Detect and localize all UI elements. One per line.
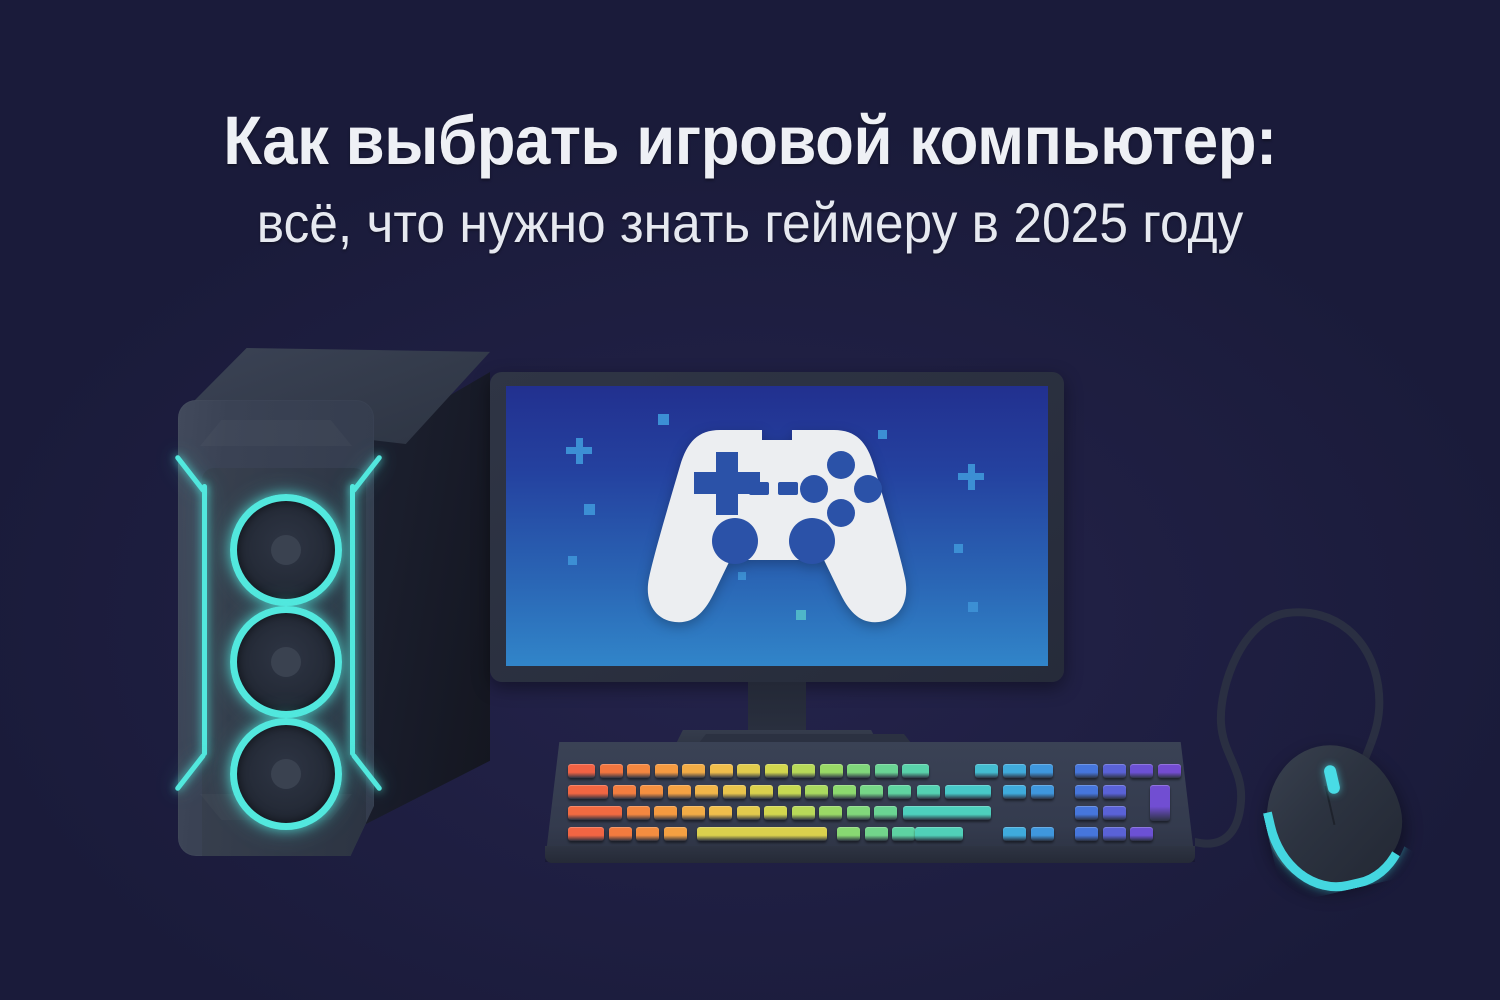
key-nav[interactable] — [1003, 764, 1026, 778]
key-row2[interactable] — [778, 785, 801, 799]
screen-square-decoration — [968, 602, 978, 612]
key-tab[interactable] — [568, 785, 608, 799]
key-mod-right[interactable] — [837, 827, 860, 841]
key-row3[interactable] — [792, 806, 815, 820]
fan-hub — [271, 759, 301, 789]
key-spacebar[interactable] — [697, 827, 827, 841]
key-numpad[interactable] — [1075, 764, 1098, 778]
keyboard-front-lip — [545, 846, 1195, 863]
key-row3[interactable] — [874, 806, 897, 820]
pc-tower — [170, 348, 490, 878]
rgb-strip-left — [202, 484, 207, 756]
key-numpad[interactable] — [1130, 764, 1153, 778]
monitor-bezel — [490, 372, 1064, 682]
screen-square-decoration — [954, 544, 963, 553]
key-numpad[interactable] — [1103, 785, 1126, 799]
poster-canvas: Как выбрать игровой компьютер: всё, что … — [0, 0, 1500, 1000]
key-row1[interactable] — [902, 764, 929, 778]
key-row2[interactable] — [613, 785, 636, 799]
key-row3[interactable] — [737, 806, 760, 820]
key-nav[interactable] — [1030, 764, 1053, 778]
key-row3[interactable] — [654, 806, 677, 820]
key-mod-right[interactable] — [915, 827, 963, 841]
gamepad-icon — [636, 424, 918, 629]
key-mod-right[interactable] — [892, 827, 915, 841]
case-fan-top — [230, 494, 342, 606]
key-row2[interactable] — [833, 785, 856, 799]
key-mod-left[interactable] — [609, 827, 632, 841]
key-row2[interactable] — [640, 785, 663, 799]
case-fan-middle — [230, 606, 342, 718]
mouse — [1195, 605, 1425, 895]
fan-hub — [271, 535, 301, 565]
key-enter-stem[interactable] — [945, 785, 991, 799]
screen-plus-decoration — [958, 464, 984, 490]
tower-bevel-top — [200, 420, 352, 446]
key-nav[interactable] — [1003, 827, 1026, 841]
key-row1[interactable] — [655, 764, 678, 778]
key-row1[interactable] — [600, 764, 623, 778]
key-numpad-plus[interactable] — [1150, 785, 1170, 821]
screen-plus-decoration — [566, 438, 592, 464]
key-row3[interactable] — [764, 806, 787, 820]
key-row1[interactable] — [737, 764, 760, 778]
key-enter[interactable] — [903, 806, 991, 820]
key-row3[interactable] — [627, 806, 650, 820]
key-numpad[interactable] — [1103, 764, 1126, 778]
key-row1[interactable] — [568, 764, 595, 778]
key-row3[interactable] — [682, 806, 705, 820]
key-row2[interactable] — [888, 785, 911, 799]
key-row1[interactable] — [820, 764, 843, 778]
key-nav[interactable] — [1003, 785, 1026, 799]
key-caps[interactable] — [568, 806, 622, 820]
key-row3[interactable] — [847, 806, 870, 820]
key-row1[interactable] — [765, 764, 788, 778]
key-numpad[interactable] — [1075, 806, 1098, 820]
key-numpad[interactable] — [1103, 827, 1126, 841]
key-numpad[interactable] — [1158, 764, 1181, 778]
illustration-scene — [0, 0, 1500, 1000]
key-row1[interactable] — [792, 764, 815, 778]
keyboard-body — [545, 742, 1195, 862]
key-numpad[interactable] — [1075, 785, 1098, 799]
key-mod-left[interactable] — [568, 827, 604, 841]
key-nav[interactable] — [975, 764, 998, 778]
screen-square-decoration — [568, 556, 577, 565]
key-numpad[interactable] — [1103, 806, 1126, 820]
key-mod-right[interactable] — [865, 827, 888, 841]
monitor-neck — [748, 682, 806, 736]
key-row3[interactable] — [819, 806, 842, 820]
key-row2[interactable] — [805, 785, 828, 799]
key-row1[interactable] — [627, 764, 650, 778]
key-mod-left[interactable] — [664, 827, 687, 841]
key-row1[interactable] — [847, 764, 870, 778]
rgb-strip-right — [350, 484, 355, 756]
screen-square-decoration — [584, 504, 595, 515]
key-row1[interactable] — [710, 764, 733, 778]
key-row3[interactable] — [709, 806, 732, 820]
key-row2[interactable] — [668, 785, 691, 799]
key-nav[interactable] — [1031, 827, 1054, 841]
key-mod-left[interactable] — [636, 827, 659, 841]
key-row2[interactable] — [750, 785, 773, 799]
monitor — [490, 372, 1064, 772]
keyboard — [545, 742, 1195, 870]
monitor-screen — [506, 386, 1048, 666]
key-row1[interactable] — [682, 764, 705, 778]
key-nav[interactable] — [1031, 785, 1054, 799]
key-row2[interactable] — [723, 785, 746, 799]
fan-hub — [271, 647, 301, 677]
key-numpad[interactable] — [1075, 827, 1098, 841]
key-row2[interactable] — [695, 785, 718, 799]
case-fan-bottom — [230, 718, 342, 830]
key-numpad[interactable] — [1130, 827, 1153, 841]
key-row1[interactable] — [875, 764, 898, 778]
key-row2[interactable] — [917, 785, 940, 799]
key-row2[interactable] — [860, 785, 883, 799]
